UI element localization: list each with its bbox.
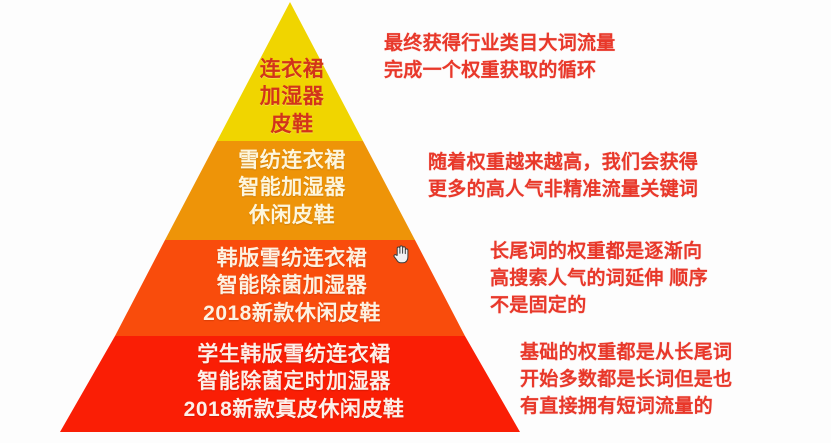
tier-1-line-1: 连衣裙 (236, 56, 348, 83)
tier-4-line-1: 学生韩版雪纺连衣裙 (128, 341, 460, 368)
annotation-upper-middle-line-2: 更多的高人气非精准流量关键词 (428, 177, 698, 204)
tier-4-line-3: 2018新款真皮休闲皮鞋 (128, 396, 460, 423)
tier-2-line-3: 休闲皮鞋 (174, 202, 410, 229)
annotation-base-line-3: 有直接拥有短词流量的 (520, 394, 732, 421)
annotation-lower-middle-line-1: 长尾词的权重都是逐渐向 (490, 239, 708, 266)
annotation-lower-middle-line-2: 高搜索人气的词延伸 顺序 (490, 266, 708, 293)
tier-1-line-2: 加湿器 (236, 83, 348, 110)
pyramid-tier-3-label: 韩版雪纺连衣裙 智能除菌加湿器 2018新款休闲皮鞋 (158, 245, 426, 327)
annotation-top-line-1: 最终获得行业类目大词流量 (384, 31, 616, 58)
tier-2-line-1: 雪纺连衣裙 (174, 147, 410, 174)
pyramid-tier-2-label: 雪纺连衣裙 智能加湿器 休闲皮鞋 (174, 147, 410, 229)
annotation-top-line-2: 完成一个权重获取的循环 (384, 58, 616, 85)
annotation-lower-middle: 长尾词的权重都是逐渐向 高搜索人气的词延伸 顺序 不是固定的 (490, 239, 708, 320)
annotation-base-line-2: 开始多数都是长词但是也 (520, 367, 732, 394)
pyramid-tier-4-label: 学生韩版雪纺连衣裙 智能除菌定时加湿器 2018新款真皮休闲皮鞋 (128, 341, 460, 423)
slide-canvas: 连衣裙 加湿器 皮鞋 雪纺连衣裙 智能加湿器 休闲皮鞋 韩版雪纺连衣裙 智能除菌… (0, 0, 831, 443)
annotation-base: 基础的权重都是从长尾词 开始多数都是长词但是也 有直接拥有短词流量的 (520, 340, 732, 421)
tier-4-line-2: 智能除菌定时加湿器 (128, 368, 460, 395)
annotation-upper-middle-line-1: 随着权重越来越高，我们会获得 (428, 150, 698, 177)
tier-2-line-2: 智能加湿器 (174, 174, 410, 201)
annotation-base-line-1: 基础的权重都是从长尾词 (520, 340, 732, 367)
tier-1-line-3: 皮鞋 (236, 111, 348, 138)
tier-3-line-2: 智能除菌加湿器 (158, 272, 426, 299)
pyramid-tier-1-label: 连衣裙 加湿器 皮鞋 (236, 56, 348, 138)
annotation-lower-middle-line-3: 不是固定的 (490, 293, 708, 320)
annotation-top: 最终获得行业类目大词流量 完成一个权重获取的循环 (384, 31, 616, 85)
tier-3-line-3: 2018新款休闲皮鞋 (158, 300, 426, 327)
annotation-upper-middle: 随着权重越来越高，我们会获得 更多的高人气非精准流量关键词 (428, 150, 698, 204)
tier-3-line-1: 韩版雪纺连衣裙 (158, 245, 426, 272)
